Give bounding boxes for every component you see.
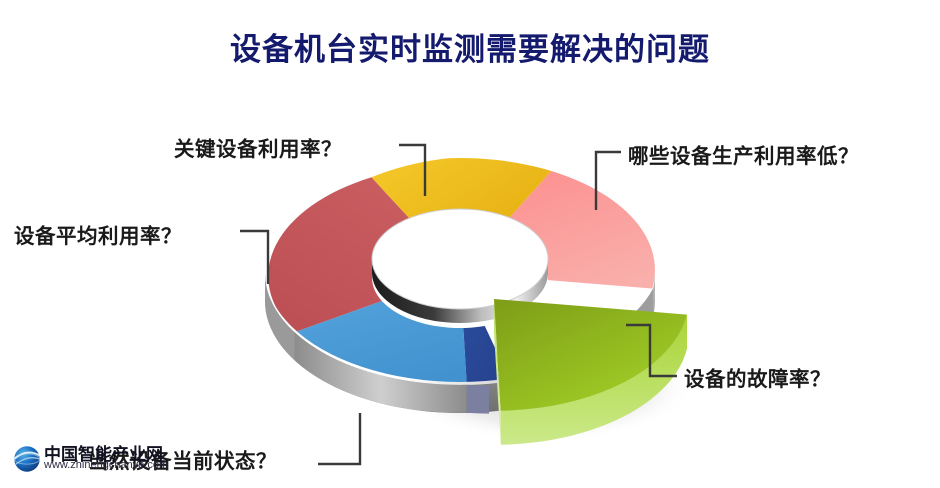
callout-which-equipment-low-utilization: 哪些设备生产利用率低？: [628, 139, 859, 169]
watermark-url: www.zhinengchanye.com: [44, 459, 168, 471]
segment-wall-navy: [467, 385, 489, 414]
callout-key-equipment-utilization: 关键设备利用率？: [174, 132, 342, 162]
donut-chart-3d: [200, 118, 720, 458]
callout-equipment-failure-rate: 设备的故障率？: [684, 362, 831, 392]
callout-average-equipment-utilization: 设备平均利用率？: [14, 219, 182, 249]
watermark: 中国智能产业网 www.zhinengchanye.com: [8, 437, 188, 483]
globe-icon: [10, 442, 44, 476]
donut-chart-svg: [200, 118, 720, 458]
slide-canvas: 设备机台实时监测需要解决的问题: [0, 0, 940, 488]
page-title: 设备机台实时监测需要解决的问题: [0, 24, 940, 69]
donut-hole: [372, 209, 548, 309]
